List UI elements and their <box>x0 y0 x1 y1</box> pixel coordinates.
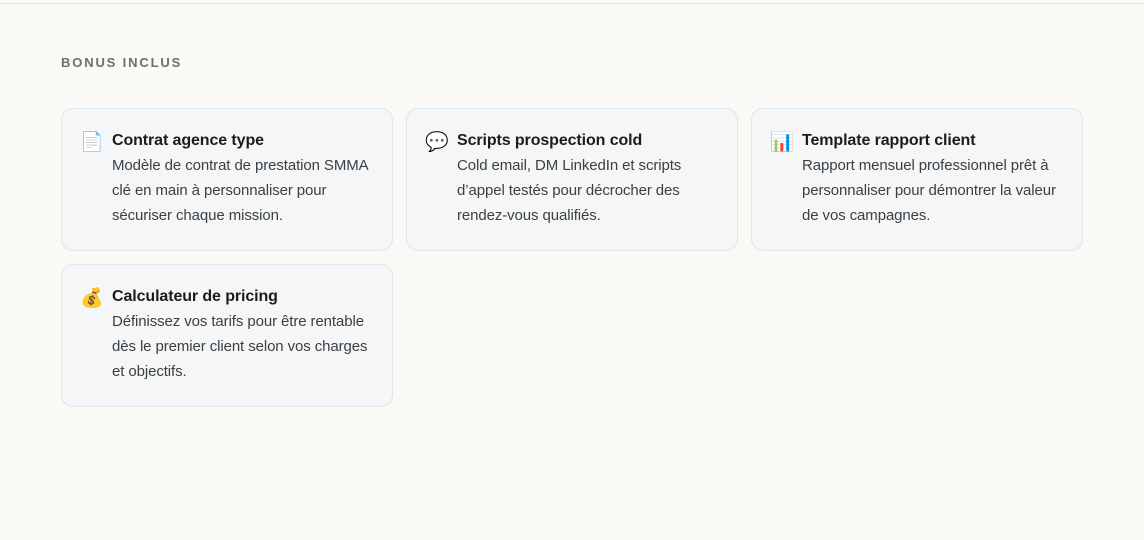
bonus-card-grid: 📄 Contrat agence type Modèle de contrat … <box>61 108 1083 407</box>
section-title: BONUS INCLUS <box>61 54 182 72</box>
bar-chart-icon: 📊 <box>770 130 790 154</box>
bonus-card-description: Rapport mensuel professionnel prêt à per… <box>802 153 1060 228</box>
bonus-card-body: Scripts prospection cold Cold email, DM … <box>457 129 715 228</box>
bonus-card-title: Scripts prospection cold <box>457 129 715 152</box>
bonus-card-body: Contrat agence type Modèle de contrat de… <box>112 129 370 228</box>
bonus-card-title: Calculateur de pricing <box>112 285 370 308</box>
bonus-card-description: Définissez vos tarifs pour être rentable… <box>112 309 370 384</box>
bonus-card-description: Cold email, DM LinkedIn et scripts d’app… <box>457 153 715 228</box>
money-bag-icon: 💰 <box>80 286 100 310</box>
page-facing-up-icon: 📄 <box>80 130 100 154</box>
bonus-card-description: Modèle de contrat de prestation SMMA clé… <box>112 153 370 228</box>
bonus-card-body: Template rapport client Rapport mensuel … <box>802 129 1060 228</box>
bonus-card[interactable]: 📊 Template rapport client Rapport mensue… <box>751 108 1083 251</box>
bonus-card[interactable]: 📄 Contrat agence type Modèle de contrat … <box>61 108 393 251</box>
speech-balloon-icon: 💬 <box>425 130 445 154</box>
bonus-card-body: Calculateur de pricing Définissez vos ta… <box>112 285 370 384</box>
bonus-card-title: Contrat agence type <box>112 129 370 152</box>
bonus-card[interactable]: 💬 Scripts prospection cold Cold email, D… <box>406 108 738 251</box>
bonus-section: BONUS INCLUS 📄 Contrat agence type Modèl… <box>0 0 1144 540</box>
bonus-card[interactable]: 💰 Calculateur de pricing Définissez vos … <box>61 264 393 407</box>
bonus-card-title: Template rapport client <box>802 129 1060 152</box>
